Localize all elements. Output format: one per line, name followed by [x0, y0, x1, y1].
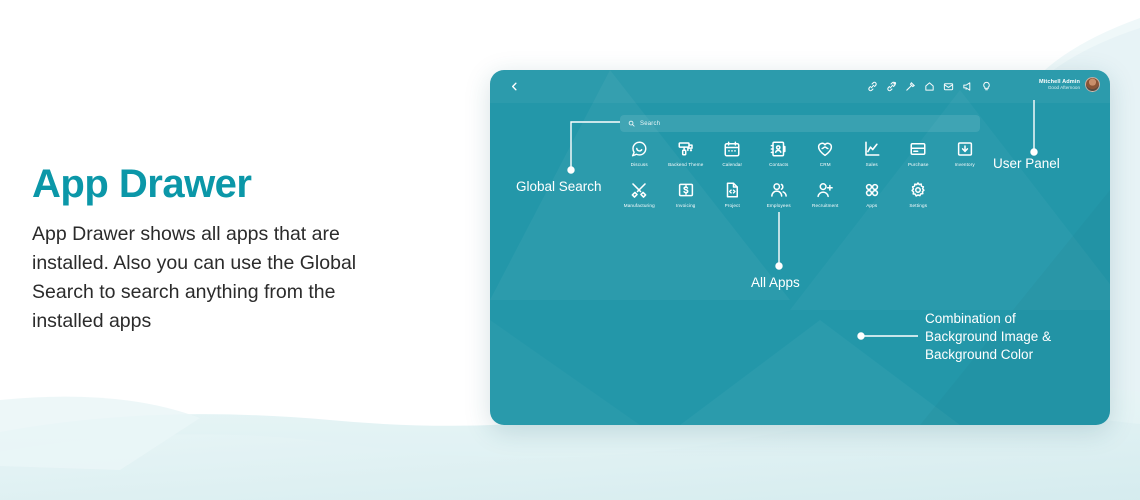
annotation-all-apps: All Apps [751, 274, 800, 292]
annotation-combination: Combination of Background Image & Backgr… [925, 310, 1051, 363]
annotation-leader-lines [0, 0, 1140, 500]
annotation-global-search: Global Search [516, 178, 602, 196]
annotation-user-panel: User Panel [993, 155, 1060, 173]
